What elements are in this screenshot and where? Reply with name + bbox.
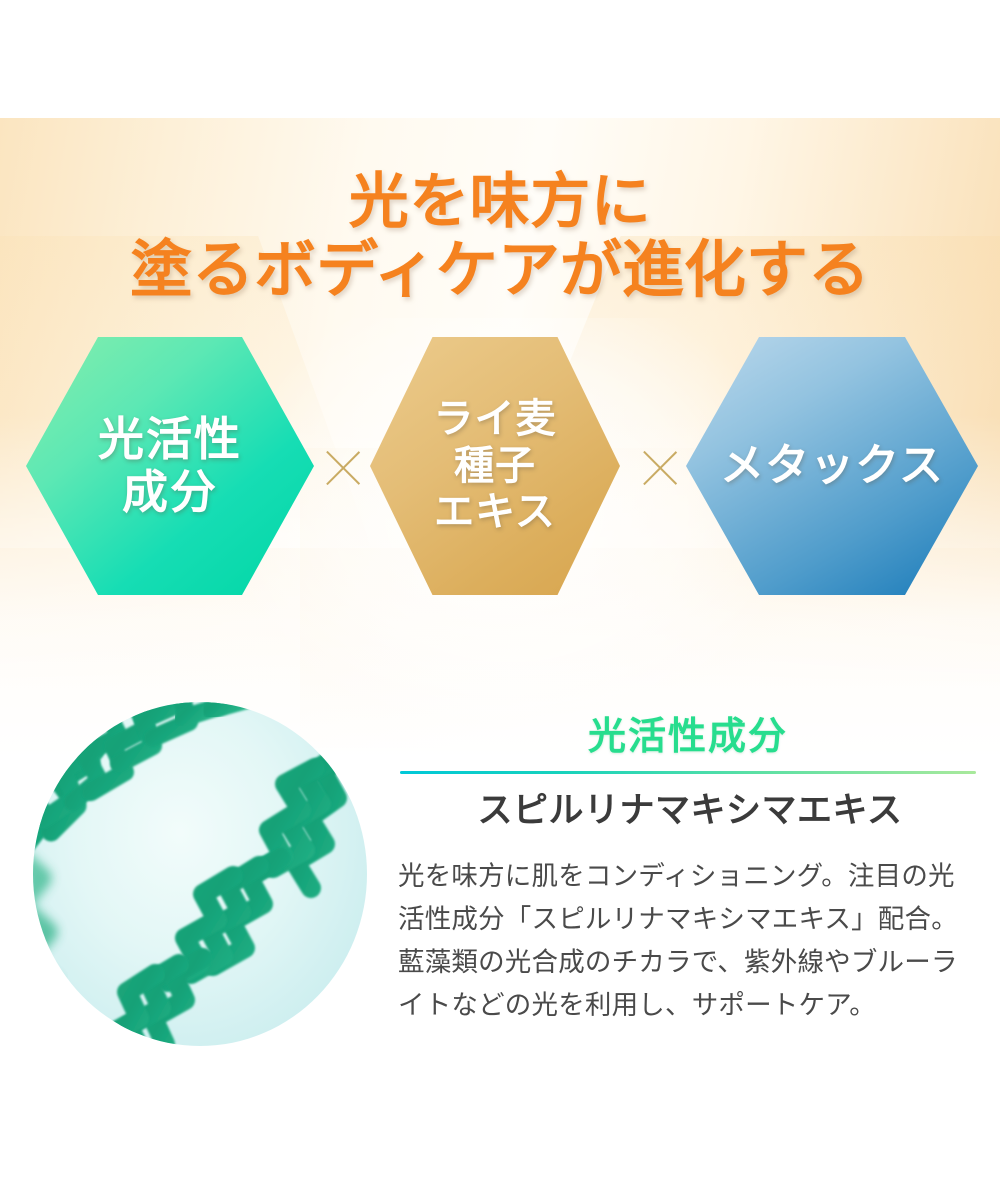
promo-page: 光を味方に 塗るボディケアが進化する 光活性 成分 ライ麦 種子 エキス メタッ… <box>0 0 1000 1200</box>
hexagon-koukassei-seibun: 光活性 成分 <box>26 337 314 595</box>
hexagon-metax: メタックス <box>686 337 978 595</box>
headline-line-1: 光を味方に <box>0 168 1000 236</box>
spirulina-photo <box>33 702 367 1046</box>
headline-line-2: 塗るボディケアが進化する <box>0 236 1000 306</box>
hexagon-label: メタックス <box>720 440 944 491</box>
multiply-icon-1 <box>320 445 366 491</box>
ingredient-description: 光を味方に肌をコンディショニング。注目の光活性成分「スピルリナマキシマエキス」配… <box>398 855 978 1027</box>
ingredient-name: スピルリナマキシマエキス <box>400 782 980 833</box>
ingredient-kicker: 光活性成分 <box>400 705 976 760</box>
ingredient-divider <box>400 771 976 774</box>
hexagon-rye-seed-extract: ライ麦 種子 エキス <box>370 337 620 595</box>
page-title: 光を味方に 塗るボディケアが進化する <box>0 168 1000 306</box>
multiply-icon-2 <box>637 445 683 491</box>
hexagon-label: ライ麦 種子 エキス <box>434 396 557 535</box>
hexagon-label: 光活性 成分 <box>98 413 242 520</box>
ingredient-hexagon-row: 光活性 成分 ライ麦 種子 エキス メタックス <box>0 337 1000 595</box>
spirulina-filaments-illustration <box>33 702 367 1046</box>
